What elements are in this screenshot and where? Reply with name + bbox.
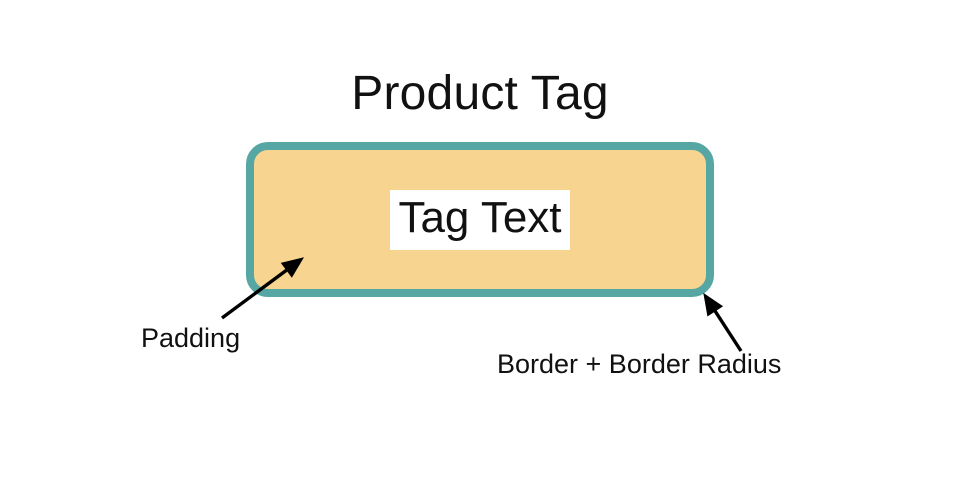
- annotation-label-border-radius: Border + Border Radius: [497, 348, 781, 380]
- diagram-canvas: Product Tag Tag Text Padding Border + Bo…: [0, 0, 972, 480]
- page-title: Product Tag: [0, 66, 960, 122]
- border-radius-arrow-line: [706, 297, 741, 351]
- annotation-label-padding: Padding: [141, 322, 240, 354]
- tag-text-label: Tag Text: [398, 192, 561, 244]
- tag-text-background: Tag Text: [390, 190, 569, 250]
- border-radius-arrow-head: [704, 294, 722, 316]
- product-tag-box: Tag Text: [246, 142, 714, 297]
